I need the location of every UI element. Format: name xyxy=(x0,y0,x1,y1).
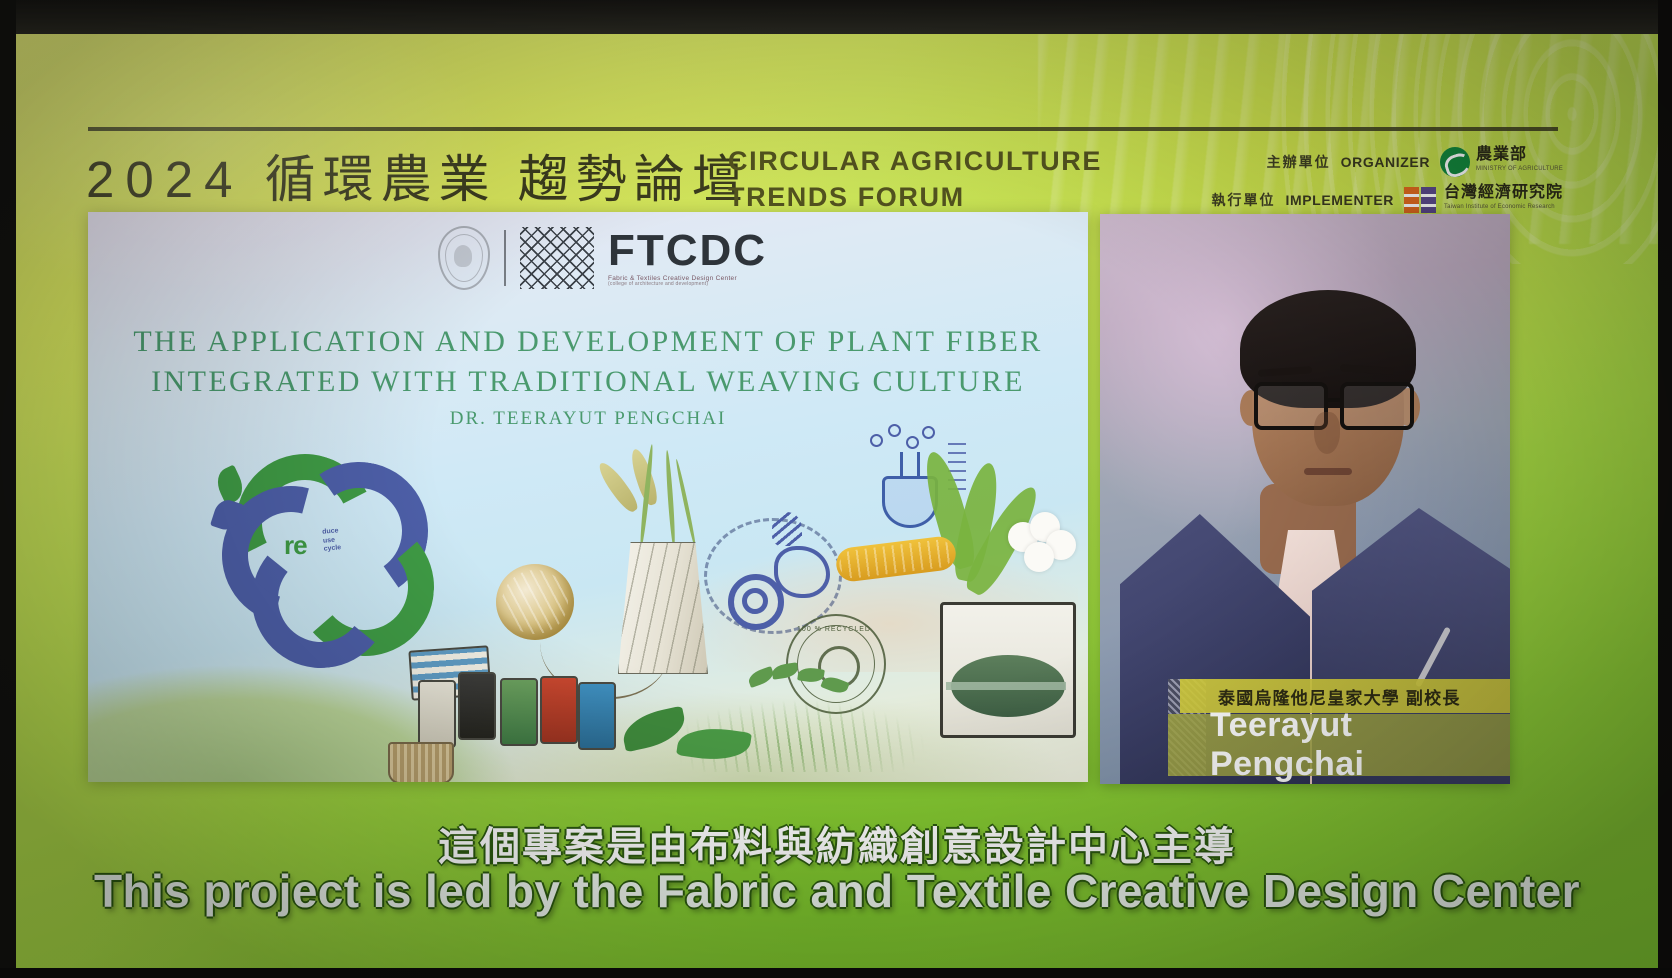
room-ceiling xyxy=(0,0,1672,34)
slide-title-line1: THE APPLICATION AND DEVELOPMENT OF PLANT… xyxy=(88,325,1088,359)
university-seal-icon xyxy=(438,226,490,290)
implementer-name: 台灣經濟研究院 Taiwan Institute of Economic Res… xyxy=(1444,185,1563,215)
implementer-label-chinese: 執行單位 xyxy=(1211,190,1275,210)
thread-spool xyxy=(618,542,708,674)
forum-title-english-line1: CIRCULAR AGRICULTURE xyxy=(728,143,1108,179)
organizer-name-chinese: 農業部 xyxy=(1476,146,1527,163)
implementer-row: 執行單位 IMPLEMENTER 台灣經濟研究院 Taiwan Institut… xyxy=(1103,185,1563,215)
weave-pattern-icon xyxy=(520,227,594,289)
forum-title-english-line2: TRENDS FORUM xyxy=(728,179,1108,215)
presentation-slide: re duce use cycle xyxy=(88,212,1088,782)
forum-title-chinese-text: 循環農業 趨勢論壇 xyxy=(265,151,750,208)
organizer-row: 主辦單位 ORGANIZER 農業部 MINISTRY OF AGRICULTU… xyxy=(1103,147,1563,177)
room-floor-edge xyxy=(0,968,1672,978)
presentation-photo: 2024 循環農業 趨勢論壇 CIRCULAR AGRICULTURE TREN… xyxy=(0,0,1672,978)
implementer-label-english: IMPLEMENTER xyxy=(1285,192,1394,208)
recycle-word: re xyxy=(284,530,307,561)
subtitle-english: This project is led by the Fabric and Te… xyxy=(16,864,1658,918)
tier-logo: 台灣經濟研究院 Taiwan Institute of Economic Res… xyxy=(1404,185,1563,215)
thread-reels xyxy=(418,672,638,752)
fabric-roll xyxy=(940,602,1076,738)
organizer-name-english: MINISTRY OF AGRICULTURE xyxy=(1476,162,1563,177)
recycle-logo: re duce use cycle xyxy=(218,452,408,632)
implementer-name-english: Taiwan Institute of Economic Research xyxy=(1444,200,1563,215)
speaker-name-bar: Teerayut Pengchai xyxy=(1168,714,1510,776)
yarn-ball xyxy=(496,564,574,640)
room-left-edge xyxy=(0,0,16,978)
recycle-cycle: cycle xyxy=(323,544,341,553)
speaker-name-text: Teerayut Pengchai xyxy=(1210,706,1510,784)
slide-illustration: re duce use cycle xyxy=(88,212,1088,782)
organizer-label-english: ORGANIZER xyxy=(1341,154,1430,170)
logo-divider xyxy=(504,230,506,286)
fabric-roll-band xyxy=(946,682,1066,690)
ftcdc-logo-lockup: FTCDC Fabric & Textiles Creative Design … xyxy=(438,226,767,290)
speaker-video-feed: 泰國烏隆他尼皇家大學 副校長 Teerayut Pengchai xyxy=(1100,214,1510,784)
forum-year: 2024 xyxy=(86,151,243,208)
implementer-name-chinese: 台灣經濟研究院 xyxy=(1444,184,1563,201)
ministry-of-agriculture-logo: 農業部 MINISTRY OF AGRICULTURE xyxy=(1440,147,1563,177)
ftcdc-subtitle-secondary: (college of architecture and development… xyxy=(608,282,767,287)
cotton-boll xyxy=(1008,512,1078,582)
leaf-swirl-icon xyxy=(1440,147,1470,177)
ftcdc-wordmark: FTCDC Fabric & Textiles Creative Design … xyxy=(608,229,767,288)
forum-title-english: CIRCULAR AGRICULTURE TRENDS FORUM xyxy=(728,143,1108,215)
projection-screen: 2024 循環農業 趨勢論壇 CIRCULAR AGRICULTURE TREN… xyxy=(16,34,1658,968)
speaker-role-text: 泰國烏隆他尼皇家大學 副校長 xyxy=(1218,684,1461,709)
organizer-name: 農業部 MINISTRY OF AGRICULTURE xyxy=(1476,147,1563,177)
forum-title-chinese: 2024 循環農業 趨勢論壇 xyxy=(86,138,750,212)
slide-title-line2: INTEGRATED WITH TRADITIONAL WEAVING CULT… xyxy=(88,365,1088,399)
recycle-subwords: duce use cycle xyxy=(322,527,342,554)
wheat-icon xyxy=(772,512,802,546)
header-divider xyxy=(88,127,1558,131)
speaker-nose xyxy=(1314,412,1340,454)
organizer-label-chinese: 主辦單位 xyxy=(1267,152,1331,172)
recycle-duce: duce xyxy=(322,527,339,535)
striped-blocks-icon xyxy=(1404,187,1438,213)
gear-icon xyxy=(728,574,784,630)
speaker-mouth xyxy=(1304,468,1352,475)
slide-author: DR. TEERAYUT PENGCHAI xyxy=(88,408,1088,430)
ftcdc-name: FTCDC xyxy=(608,229,767,273)
recycled-stamp-text: 100 % RECYCLED xyxy=(794,626,874,633)
woven-basket xyxy=(388,742,454,782)
leaf-branch xyxy=(748,664,858,724)
organizer-block: 主辦單位 ORGANIZER 農業部 MINISTRY OF AGRICULTU… xyxy=(1103,147,1563,223)
room-right-edge xyxy=(1658,0,1672,978)
recycle-use: use xyxy=(323,536,336,544)
